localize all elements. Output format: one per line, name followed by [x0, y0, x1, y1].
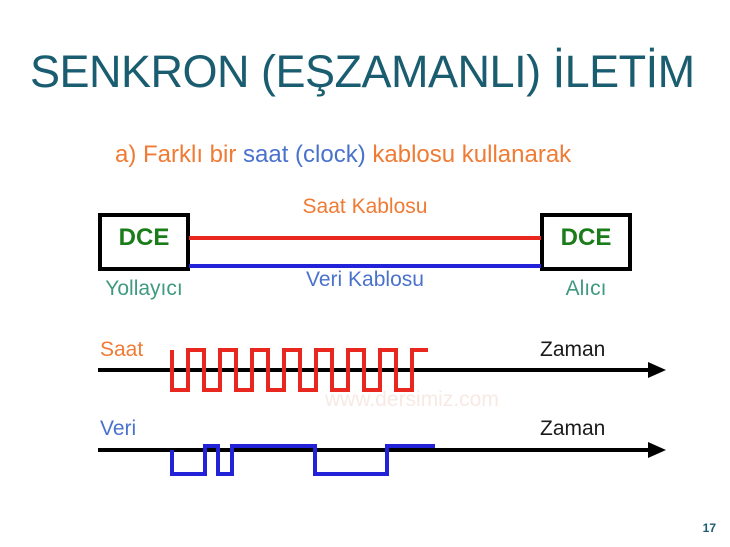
sender-role-label: Yollayıcı	[88, 277, 200, 301]
data-waveform-section: Veri Zaman	[0, 405, 730, 480]
clock-cable-line	[189, 236, 541, 240]
clock-waveform-section: Saat Zaman	[0, 330, 730, 400]
clock-cable-label: Saat Kablosu	[189, 195, 541, 219]
clock-waveform-plot	[0, 330, 730, 400]
dce-receiver-label: DCE	[540, 224, 632, 252]
receiver-role-label: Alıcı	[530, 277, 642, 301]
dce-sender-label: DCE	[98, 224, 190, 252]
slide-canvas: SENKRON (EŞZAMANLI) İLETİM a) Farklı bir…	[0, 0, 730, 547]
page-number: 17	[703, 521, 716, 535]
data-waveform-plot	[0, 405, 730, 480]
data-cable-label: Veri Kablosu	[189, 268, 541, 292]
